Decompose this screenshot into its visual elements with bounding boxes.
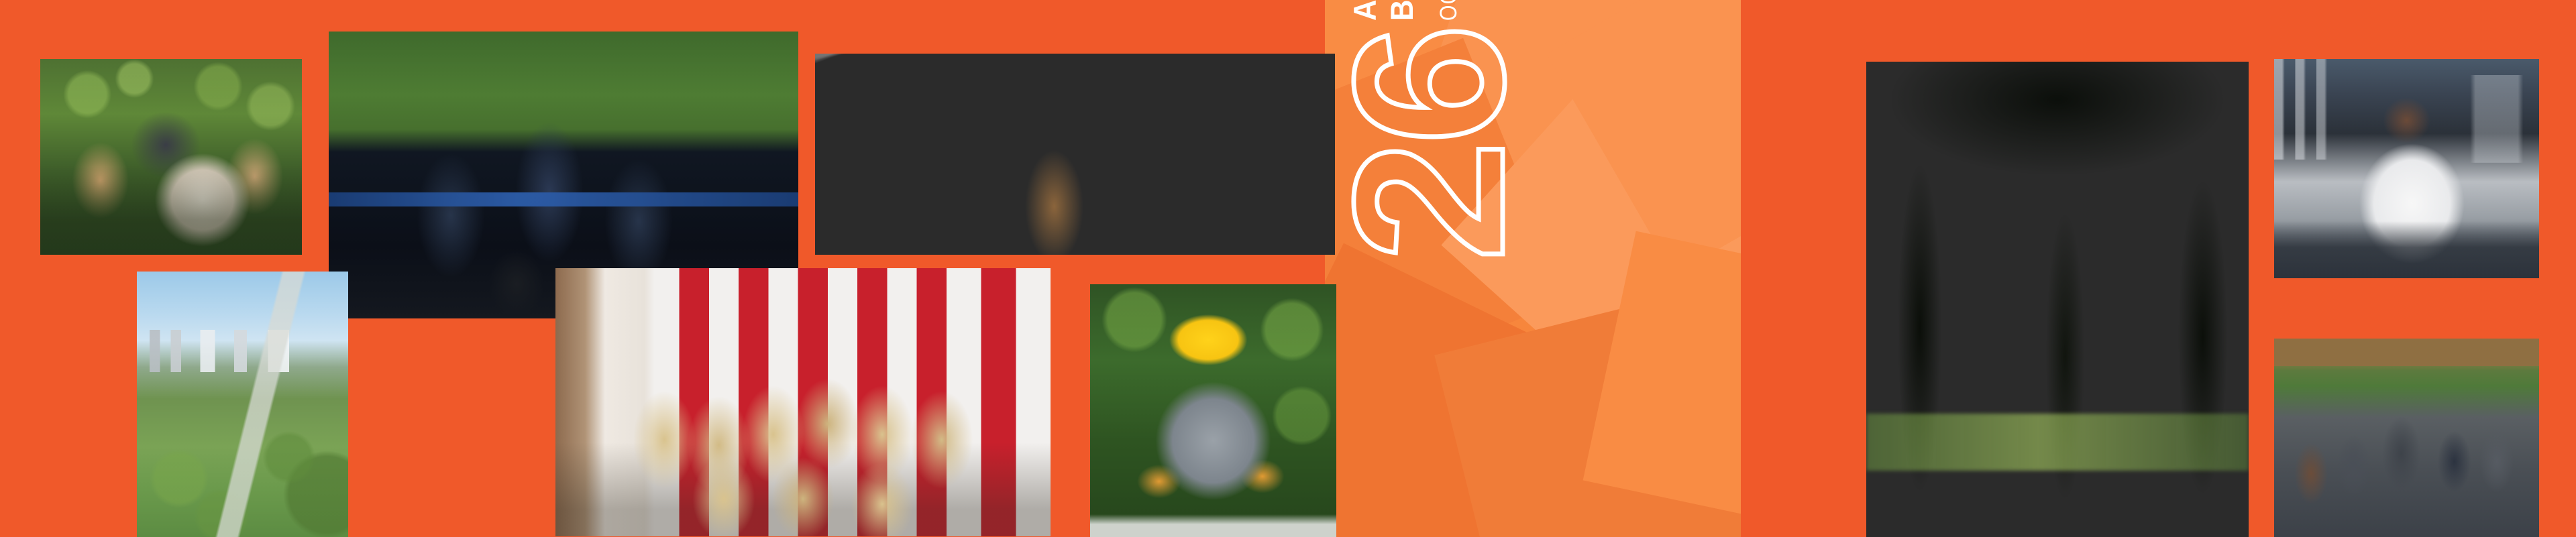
photo-tallahassee-skyline-park (137, 272, 348, 537)
headline-line-2: BENEFITS ENROLLMENT (1386, 0, 1417, 21)
photo-image (815, 54, 1335, 255)
photo-employee-group-pergola (2274, 339, 2539, 537)
photo-live-oaks-sunburst (1866, 62, 2249, 537)
photo-image (2274, 59, 2539, 278)
enrollment-dates: OCT. 17, 2025 - NOV. 14, 2025 (1436, 0, 1462, 21)
photo-image (137, 272, 348, 537)
photo-sunset-over-city (815, 54, 1335, 255)
photo-firefighters-with-flag (555, 268, 1051, 536)
photo-image (1866, 62, 2249, 537)
headline-block: ANNUAL EMPLOYEE BENEFITS ENROLLMENT OCT.… (1350, 0, 1517, 537)
photo-image (40, 59, 302, 255)
photo-lab-scientist (2274, 59, 2539, 278)
photo-electric-lineman (1090, 284, 1336, 537)
headline-line-1: ANNUAL EMPLOYEE (1349, 0, 1381, 21)
photo-image (2274, 339, 2539, 537)
photo-image (555, 268, 1051, 536)
photo-image (1090, 284, 1336, 537)
year-2026: 20 26 (1505, 0, 1733, 537)
benefits-enrollment-banner: 20 26 ANNUAL EMPLOYEE BENEFITS ENROLLMEN… (0, 0, 2576, 537)
photo-animal-control-with-dog (40, 59, 302, 255)
